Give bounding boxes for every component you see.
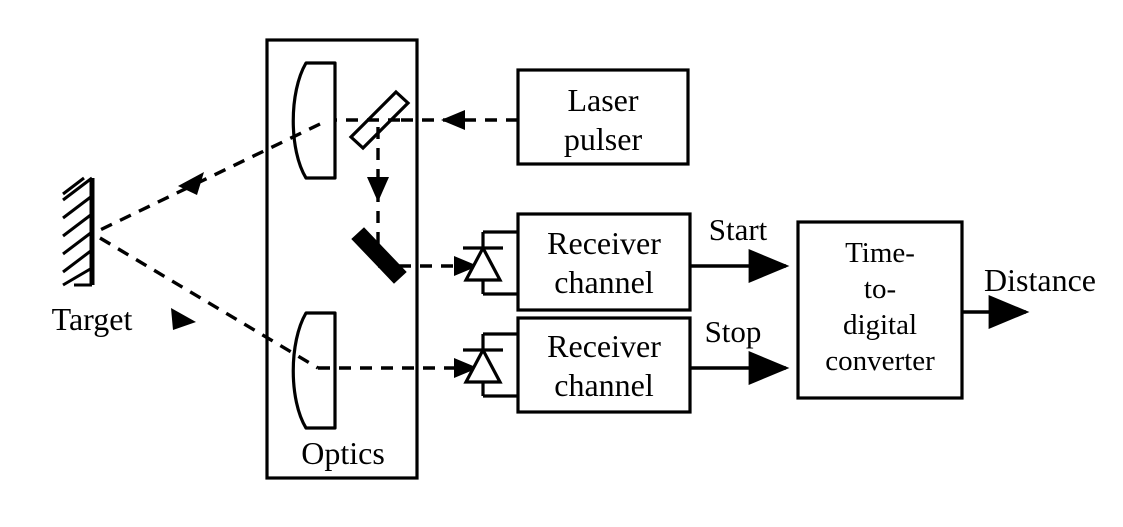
target-label: Target [52, 301, 133, 337]
laser-pulser-label-line1: Laser [567, 82, 638, 118]
receiver-lens [293, 313, 335, 428]
tdc-label-line1: Time- [845, 237, 915, 269]
laser-pulser-label-line2: pulser [564, 121, 643, 157]
receiver-start-label-line2: channel [554, 264, 654, 300]
laser-rangefinder-diagram: Target Optics Laser [0, 0, 1123, 527]
diagram-canvas: Target Optics Laser [0, 0, 1123, 527]
optics-label: Optics [301, 435, 385, 471]
transmitter-lens [293, 63, 335, 178]
tdc-label-line3: digital [843, 309, 917, 341]
receiver-start-label-line1: Receiver [547, 225, 661, 261]
receiver-stop-label-line2: channel [554, 367, 654, 403]
tdc-label-line2: to- [864, 273, 896, 305]
photodiode-start [463, 232, 518, 294]
target-symbol [63, 178, 92, 285]
photodiode-stop [463, 334, 518, 396]
stop-signal-label: Stop [705, 314, 762, 349]
start-signal-label: Start [709, 212, 768, 247]
beam-laser-arrowhead-icon [441, 110, 465, 130]
distance-output-label: Distance [984, 262, 1096, 298]
receiver-stop-label-line1: Receiver [547, 328, 661, 364]
beam-receive-arrowhead-icon [171, 308, 196, 330]
tdc-label-line4: converter [825, 345, 935, 377]
